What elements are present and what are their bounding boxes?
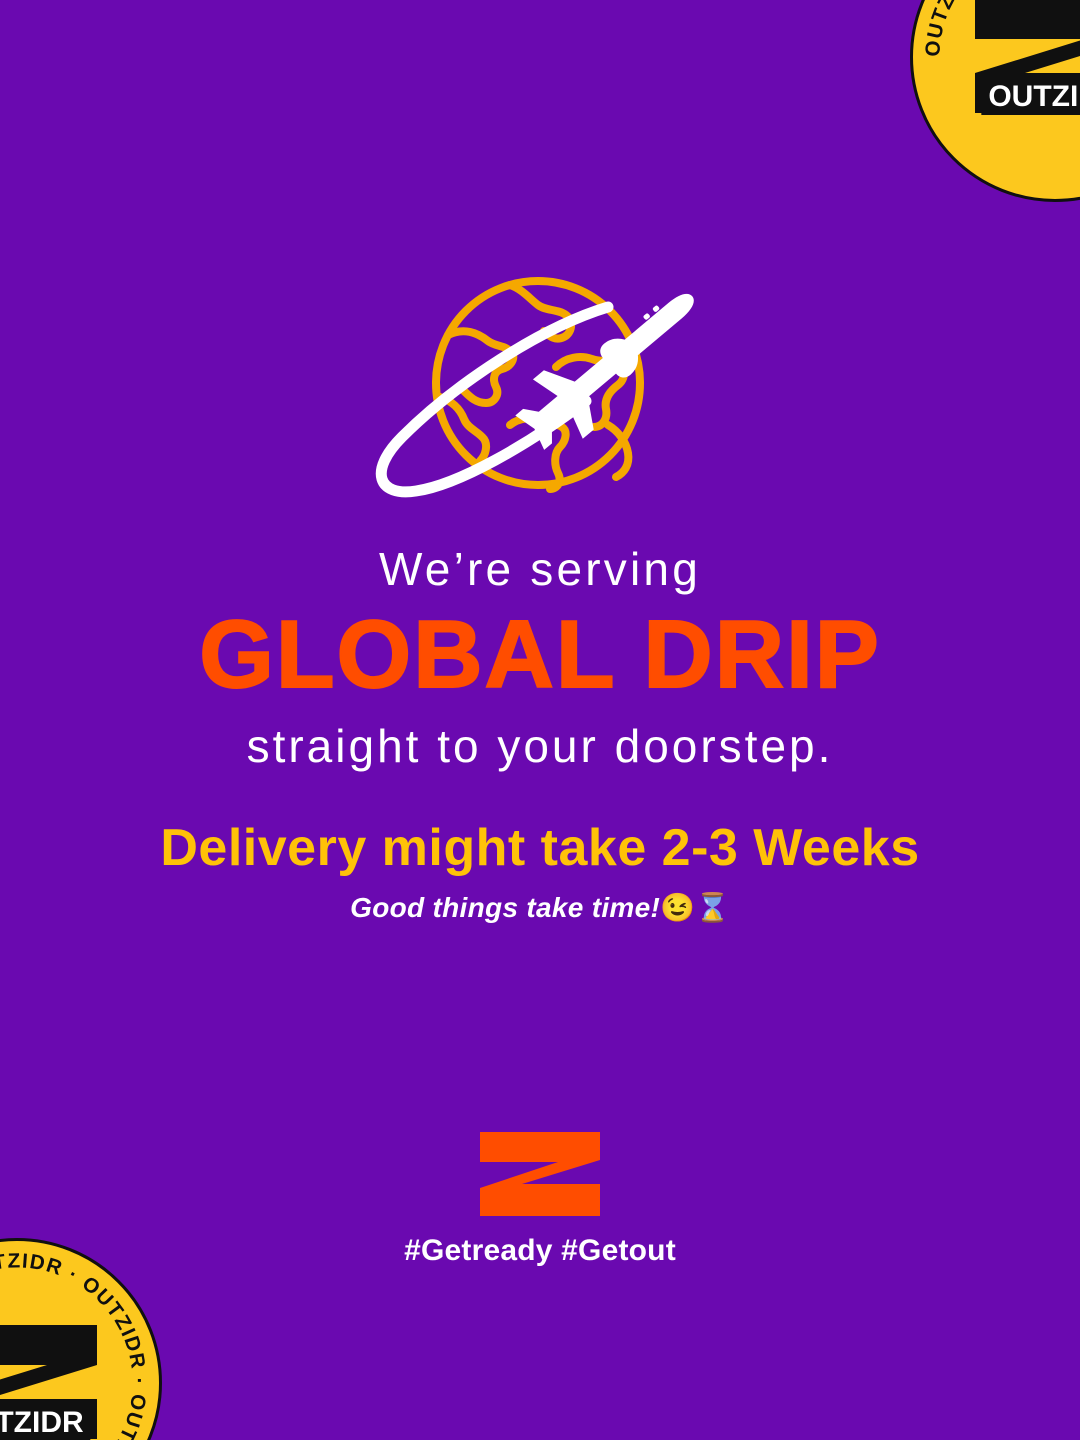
wordmark-z: Z (1052, 80, 1070, 113)
outzidr-z-mark-icon (478, 1130, 602, 1218)
wordmark-right: IDR (1070, 80, 1080, 113)
hashtags-text: #Getready #Getout (0, 1234, 1080, 1268)
airplane-icon (505, 267, 717, 463)
globe-with-airplane-icon (360, 275, 720, 510)
outzidr-badge-bottom-left: OUTZIDR · OUTZIDR · OUTZIDR · OUTZIDR · … (0, 1238, 162, 1440)
wordmark-right: IDR (32, 1406, 84, 1439)
reassurance-line: Good things take time!😉⌛ (30, 891, 1050, 925)
badge-core-tr: OUTZIDR (967, 0, 1080, 119)
wordmark-left: OUT (0, 1406, 14, 1439)
badge-wordmark-bl: OUTZIDR (0, 1406, 91, 1440)
badge-wordmark-tr: OUTZIDR (981, 80, 1080, 115)
delivery-time-text: Delivery might take 2-3 Weeks (30, 820, 1050, 877)
wink-hourglass-emoji: 😉⌛ (660, 892, 730, 923)
badge-core-bl: OUTZIDR (0, 1321, 105, 1440)
poster-canvas: OUTZIDR · OUTZIDR · OUTZIDR · OUTZIDR · … (0, 0, 1080, 1440)
wordmark-left: OUT (988, 80, 1051, 113)
outzidr-badge-top-right: OUTZIDR · OUTZIDR · OUTZIDR · OUTZIDR · … (910, 0, 1080, 202)
reassurance-text: Good things take time! (350, 892, 660, 923)
headline-subline: straight to your doorstep. (40, 721, 1040, 772)
headline-eyebrow: We’re serving (40, 545, 1040, 593)
wordmark-z: Z (14, 1406, 32, 1439)
page-title: GLOBAL DRIP (40, 607, 1040, 703)
delivery-notice-block: Delivery might take 2-3 Weeks Good thing… (0, 820, 1080, 925)
footer-block: #Getready #Getout (0, 1130, 1080, 1268)
headline-block: We’re serving GLOBAL DRIP straight to yo… (0, 545, 1080, 772)
